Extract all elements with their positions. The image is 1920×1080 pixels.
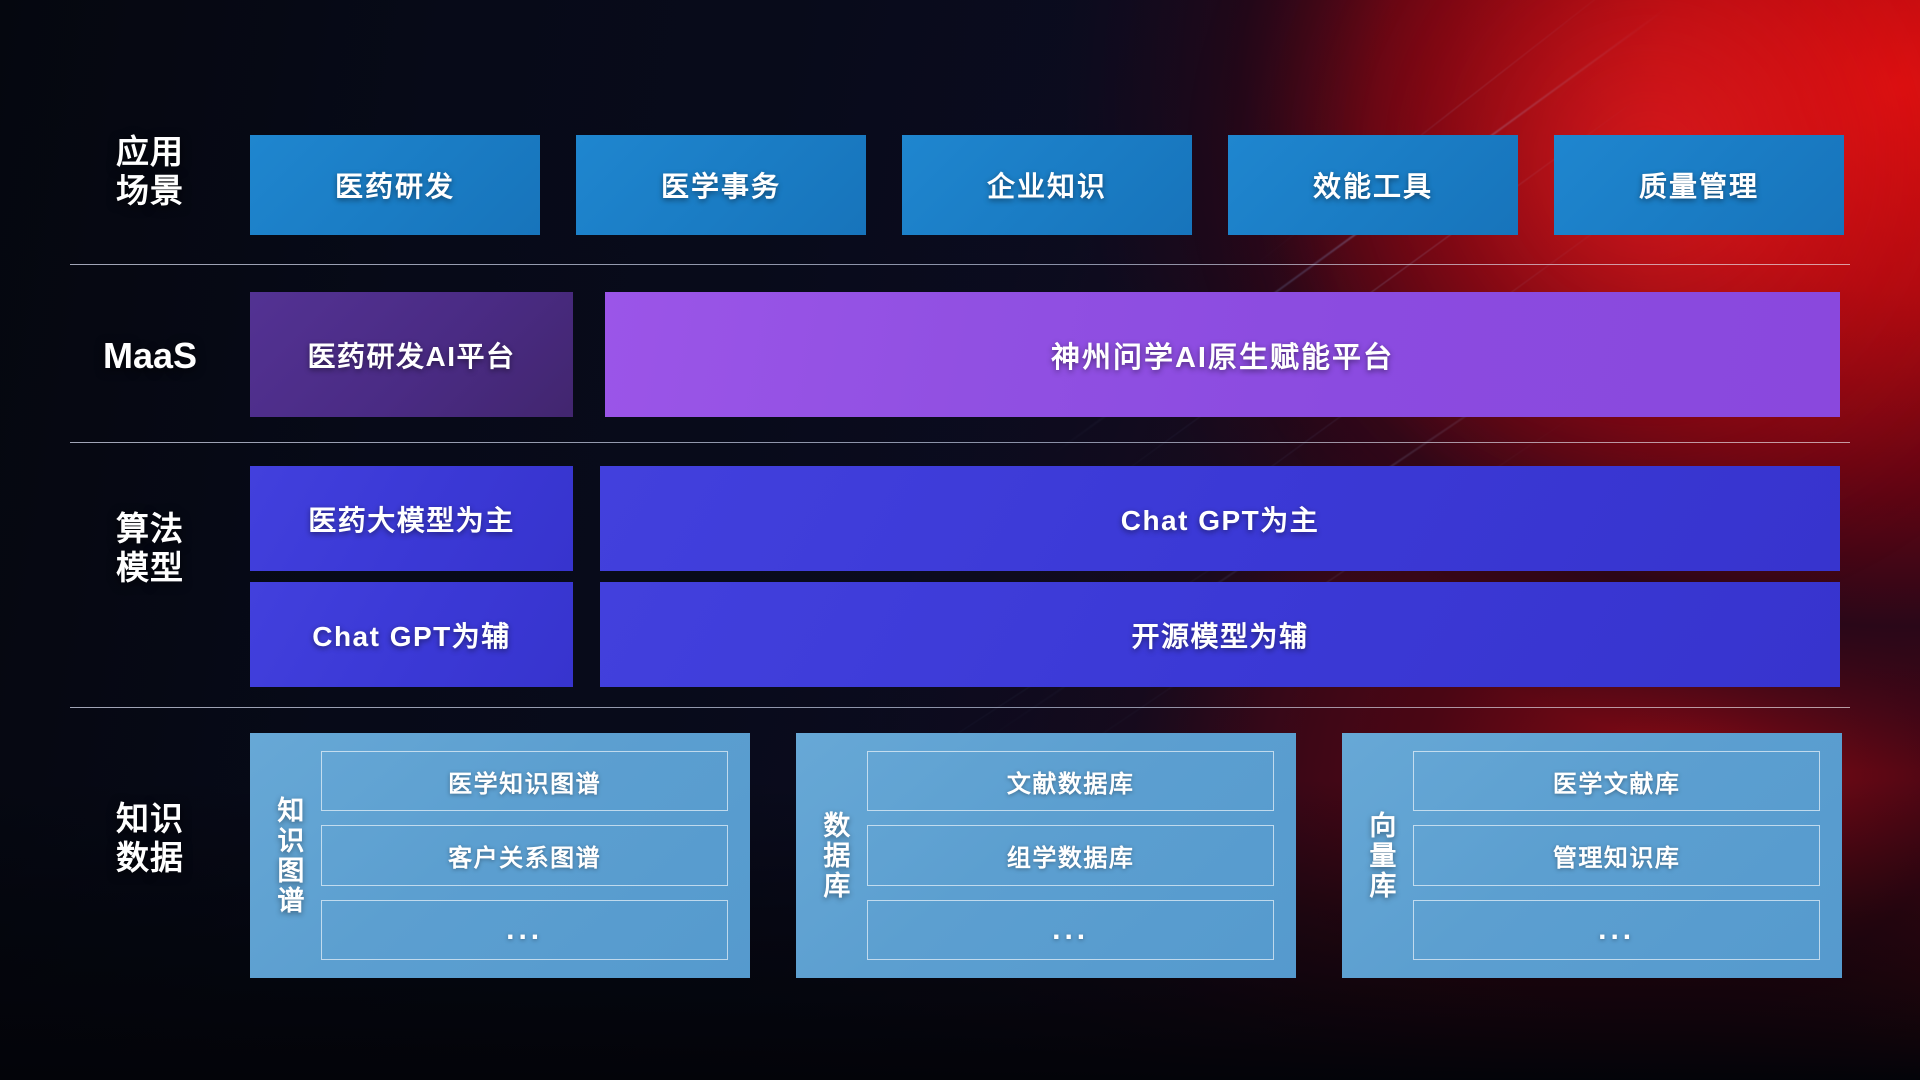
knowledge-item[interactable]: 医学文献库: [1413, 751, 1820, 811]
knowledge-item[interactable]: 医学知识图谱: [321, 751, 728, 811]
algo-bar-left-primary[interactable]: 医药大模型为主: [250, 466, 573, 571]
algo-bar-left-secondary[interactable]: Chat GPT为辅: [250, 582, 573, 687]
app-card-5[interactable]: 质量管理: [1554, 135, 1844, 235]
knowledge-item-more[interactable]: ...: [867, 900, 1274, 960]
knowledge-item[interactable]: 管理知识库: [1413, 825, 1820, 885]
app-card-3[interactable]: 企业知识: [902, 135, 1192, 235]
row-label-algorithm: 算法 模型: [70, 510, 230, 588]
app-card-4[interactable]: 效能工具: [1228, 135, 1518, 235]
knowledge-item[interactable]: 客户关系图谱: [321, 825, 728, 885]
maas-platform-card[interactable]: 医药研发AI平台: [250, 292, 573, 417]
architecture-diagram: 应用 场景 医药研发 医学事务 企业知识 效能工具 质量管理 MaaS 医药研发…: [0, 0, 1920, 1080]
knowledge-group-database[interactable]: 数据库 文献数据库 组学数据库 ...: [796, 733, 1296, 978]
knowledge-group-graph[interactable]: 知识图谱 医学知识图谱 客户关系图谱 ...: [250, 733, 750, 978]
knowledge-group-database-items: 文献数据库 组学数据库 ...: [867, 751, 1274, 960]
knowledge-group-vector[interactable]: 向量库 医学文献库 管理知识库 ...: [1342, 733, 1842, 978]
knowledge-group-vector-label: 向量库: [1364, 751, 1395, 960]
knowledge-item-more[interactable]: ...: [321, 900, 728, 960]
knowledge-item[interactable]: 组学数据库: [867, 825, 1274, 885]
knowledge-group-graph-label: 知识图谱: [272, 751, 303, 960]
knowledge-group-graph-items: 医学知识图谱 客户关系图谱 ...: [321, 751, 728, 960]
algo-bar-right-primary[interactable]: Chat GPT为主: [600, 466, 1840, 571]
divider-1: [70, 264, 1850, 265]
knowledge-group-database-label: 数据库: [818, 751, 849, 960]
knowledge-item[interactable]: 文献数据库: [867, 751, 1274, 811]
row-label-maas: MaaS: [70, 335, 230, 377]
app-card-1[interactable]: 医药研发: [250, 135, 540, 235]
algo-bar-right-secondary[interactable]: 开源模型为辅: [600, 582, 1840, 687]
knowledge-group-vector-items: 医学文献库 管理知识库 ...: [1413, 751, 1820, 960]
divider-3: [70, 707, 1850, 708]
divider-2: [70, 442, 1850, 443]
app-card-2[interactable]: 医学事务: [576, 135, 866, 235]
knowledge-item-more[interactable]: ...: [1413, 900, 1820, 960]
row-label-application: 应用 场景: [70, 133, 230, 211]
row-label-knowledge: 知识 数据: [70, 800, 230, 878]
maas-enablement-platform-bar[interactable]: 神州问学AI原生赋能平台: [605, 292, 1840, 417]
